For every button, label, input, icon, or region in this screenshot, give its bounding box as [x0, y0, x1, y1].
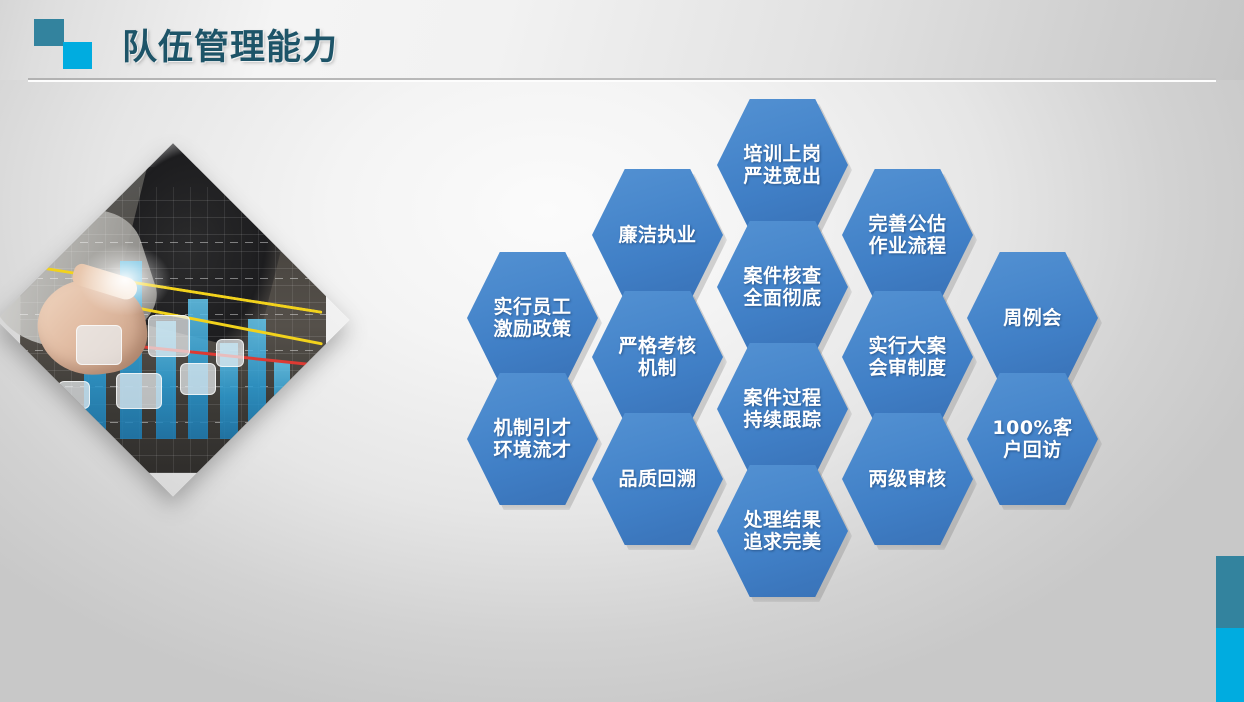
hexagon-label: 实行大案 会审制度 — [864, 335, 950, 380]
hexagon-label: 两级审核 — [864, 468, 950, 490]
hexagon-label: 品质回溯 — [614, 468, 700, 490]
corner-accent — [1216, 556, 1244, 702]
corner-accent-teal — [1216, 556, 1244, 628]
hexagon-label: 培训上岗 严进宽出 — [739, 143, 825, 188]
hexagon-cluster: 实行员工 激励政策机制引才 环境流才廉洁执业严格考核 机制品质回溯培训上岗 严进… — [0, 0, 1244, 702]
hexagon-label: 周例会 — [999, 307, 1066, 329]
hexagon-label: 实行员工 激励政策 — [489, 296, 575, 341]
corner-accent-blue — [1216, 628, 1244, 702]
hexagon-label: 100%客 户回访 — [988, 417, 1076, 462]
hexagon-label: 完善公估 作业流程 — [864, 213, 950, 258]
presentation-slide: 队伍管理能力 实行员工 激励政策机制引才 环境流才廉洁执业严格考核 机制品质回溯… — [0, 0, 1244, 702]
hexagon-label: 机制引才 环境流才 — [489, 417, 575, 462]
hexagon-label: 案件过程 持续跟踪 — [739, 387, 825, 432]
hexagon-label: 处理结果 追求完美 — [739, 509, 825, 554]
hexagon-label: 严格考核 机制 — [614, 335, 700, 380]
hexagon-label: 廉洁执业 — [614, 224, 700, 246]
hexagon-label: 案件核查 全面彻底 — [739, 265, 825, 310]
